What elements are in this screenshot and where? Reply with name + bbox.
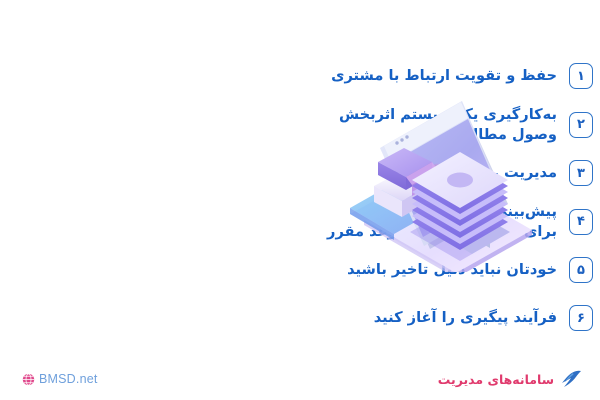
- item-number-badge: ۶: [569, 305, 593, 331]
- brand-name-label: سامانه‌های مدیریت: [438, 372, 554, 387]
- list-item: ۶ فرآیند پیگیری را آغاز کنید: [260, 294, 600, 342]
- globe-icon: [22, 373, 35, 386]
- item-text-line1: فرآیند پیگیری را آغاز کنید: [374, 309, 557, 326]
- infographic-page: ۱ حفظ و تقویت ارتباط با مشتری ۲ به‌کارگی…: [0, 0, 600, 400]
- footer-site-credit[interactable]: BMSD.net: [22, 372, 98, 386]
- item-text: فرآیند پیگیری را آغاز کنید: [260, 308, 557, 327]
- illustration-isometric-finance: [344, 72, 592, 272]
- bird-swoosh-icon: [558, 369, 582, 389]
- footer-brand-logo[interactable]: سامانه‌های مدیریت: [438, 369, 582, 389]
- site-name-label: BMSD.net: [39, 372, 98, 386]
